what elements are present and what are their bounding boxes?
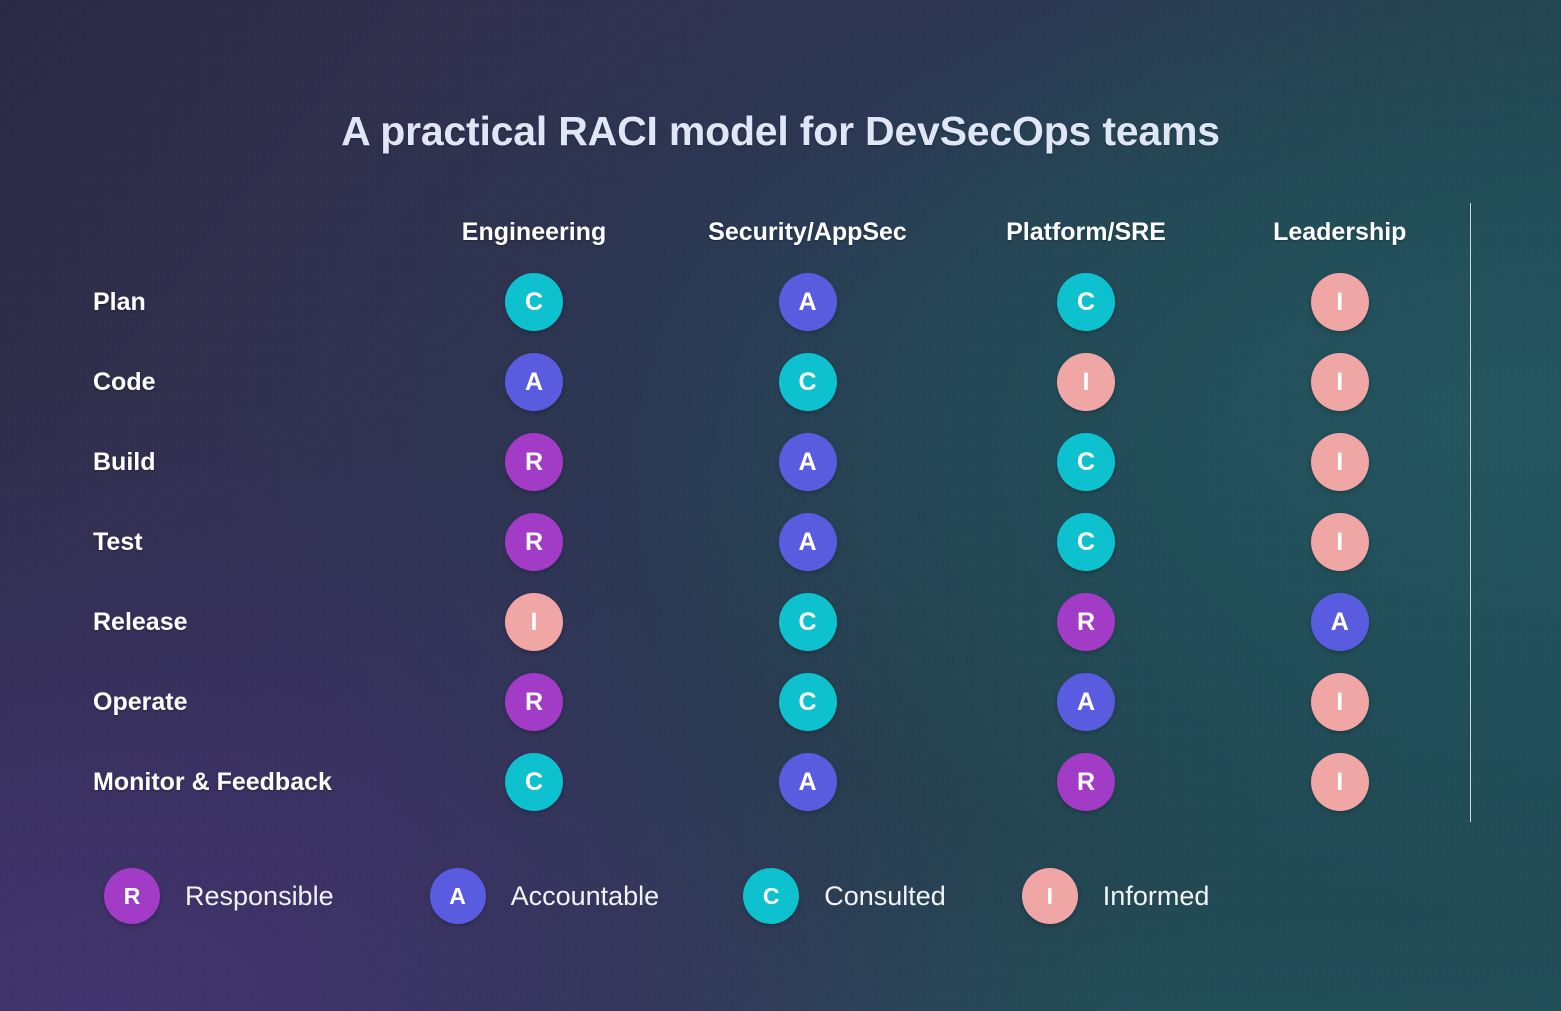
raci-badge-c: C bbox=[779, 673, 837, 731]
raci-badge-i: I bbox=[1311, 273, 1369, 331]
column-header-platform: Platform/SRE bbox=[962, 203, 1210, 262]
raci-badge-c: C bbox=[505, 753, 563, 811]
cell-build-security: A bbox=[653, 422, 962, 502]
row-label-release: Release bbox=[93, 582, 415, 662]
cell-test-engineering: R bbox=[415, 502, 653, 582]
cell-build-leadership: I bbox=[1210, 422, 1470, 502]
raci-badge-a: A bbox=[779, 513, 837, 571]
raci-badge-c: C bbox=[1057, 433, 1115, 491]
cell-plan-engineering: C bbox=[415, 262, 653, 342]
raci-badge-c: C bbox=[1057, 513, 1115, 571]
table-row: Plan C A C I bbox=[93, 262, 1470, 342]
column-header-security: Security/AppSec bbox=[653, 203, 962, 262]
table-row: Release I C R A bbox=[93, 582, 1470, 662]
table-row: Operate R C A I bbox=[93, 662, 1470, 742]
cell-monitor-leadership: I bbox=[1210, 742, 1470, 822]
raci-badge-i: I bbox=[1311, 353, 1369, 411]
legend-badge-c: C bbox=[743, 868, 799, 924]
row-label-plan: Plan bbox=[93, 262, 415, 342]
cell-operate-engineering: R bbox=[415, 662, 653, 742]
cell-release-security: C bbox=[653, 582, 962, 662]
raci-badge-a: A bbox=[779, 753, 837, 811]
cell-test-leadership: I bbox=[1210, 502, 1470, 582]
header-corner bbox=[93, 203, 415, 262]
cell-monitor-engineering: C bbox=[415, 742, 653, 822]
raci-badge-c: C bbox=[779, 353, 837, 411]
cell-code-engineering: A bbox=[415, 342, 653, 422]
legend: R Responsible A Accountable C Consulted … bbox=[104, 866, 1484, 926]
raci-badge-c: C bbox=[1057, 273, 1115, 331]
row-label-build: Build bbox=[93, 422, 415, 502]
row-label-test: Test bbox=[93, 502, 415, 582]
cell-release-platform: R bbox=[962, 582, 1210, 662]
raci-badge-r: R bbox=[1057, 593, 1115, 651]
legend-label-consulted: Consulted bbox=[824, 881, 946, 912]
raci-badge-a: A bbox=[505, 353, 563, 411]
raci-matrix-table: Engineering Security/AppSec Platform/SRE… bbox=[93, 203, 1471, 822]
cell-operate-platform: A bbox=[962, 662, 1210, 742]
cell-code-leadership: I bbox=[1210, 342, 1470, 422]
cell-operate-security: C bbox=[653, 662, 962, 742]
matrix-header: Engineering Security/AppSec Platform/SRE… bbox=[93, 203, 1470, 262]
row-label-code: Code bbox=[93, 342, 415, 422]
raci-badge-i: I bbox=[1311, 513, 1369, 571]
raci-badge-a: A bbox=[1057, 673, 1115, 731]
table-row: Test R A C I bbox=[93, 502, 1470, 582]
raci-badge-i: I bbox=[1311, 753, 1369, 811]
cell-monitor-security: A bbox=[653, 742, 962, 822]
legend-item-responsible: R Responsible bbox=[104, 868, 334, 924]
column-header-leadership: Leadership bbox=[1210, 203, 1470, 262]
cell-plan-platform: C bbox=[962, 262, 1210, 342]
cell-release-leadership: A bbox=[1210, 582, 1470, 662]
raci-badge-c: C bbox=[505, 273, 563, 331]
raci-badge-i: I bbox=[1311, 673, 1369, 731]
raci-badge-a: A bbox=[779, 273, 837, 331]
table-row: Monitor & Feedback C A R I bbox=[93, 742, 1470, 822]
raci-matrix-canvas: A practical RACI model for DevSecOps tea… bbox=[0, 0, 1561, 1011]
row-label-operate: Operate bbox=[93, 662, 415, 742]
legend-item-informed: I Informed bbox=[1022, 868, 1210, 924]
table-row: Build R A C I bbox=[93, 422, 1470, 502]
raci-badge-i: I bbox=[1057, 353, 1115, 411]
legend-label-responsible: Responsible bbox=[185, 881, 334, 912]
cell-release-engineering: I bbox=[415, 582, 653, 662]
raci-badge-r: R bbox=[505, 513, 563, 571]
legend-label-informed: Informed bbox=[1103, 881, 1210, 912]
cell-build-platform: C bbox=[962, 422, 1210, 502]
cell-monitor-platform: R bbox=[962, 742, 1210, 822]
legend-item-consulted: C Consulted bbox=[743, 868, 946, 924]
legend-item-accountable: A Accountable bbox=[430, 868, 660, 924]
cell-code-security: C bbox=[653, 342, 962, 422]
raci-badge-a: A bbox=[1311, 593, 1369, 651]
legend-badge-r: R bbox=[104, 868, 160, 924]
raci-badge-r: R bbox=[1057, 753, 1115, 811]
raci-badge-c: C bbox=[779, 593, 837, 651]
cell-operate-leadership: I bbox=[1210, 662, 1470, 742]
cell-code-platform: I bbox=[962, 342, 1210, 422]
row-label-monitor-feedback: Monitor & Feedback bbox=[93, 742, 415, 822]
raci-badge-a: A bbox=[779, 433, 837, 491]
page-title: A practical RACI model for DevSecOps tea… bbox=[0, 108, 1561, 155]
legend-badge-a: A bbox=[430, 868, 486, 924]
raci-badge-r: R bbox=[505, 673, 563, 731]
column-header-engineering: Engineering bbox=[415, 203, 653, 262]
legend-badge-i: I bbox=[1022, 868, 1078, 924]
cell-test-platform: C bbox=[962, 502, 1210, 582]
raci-badge-i: I bbox=[1311, 433, 1369, 491]
matrix-body: Plan C A C I Code A C I I Build R A C I bbox=[93, 262, 1470, 822]
cell-test-security: A bbox=[653, 502, 962, 582]
raci-badge-i: I bbox=[505, 593, 563, 651]
legend-label-accountable: Accountable bbox=[511, 881, 660, 912]
cell-plan-leadership: I bbox=[1210, 262, 1470, 342]
header-row: Engineering Security/AppSec Platform/SRE… bbox=[93, 203, 1470, 262]
raci-badge-r: R bbox=[505, 433, 563, 491]
cell-build-engineering: R bbox=[415, 422, 653, 502]
table-row: Code A C I I bbox=[93, 342, 1470, 422]
cell-plan-security: A bbox=[653, 262, 962, 342]
